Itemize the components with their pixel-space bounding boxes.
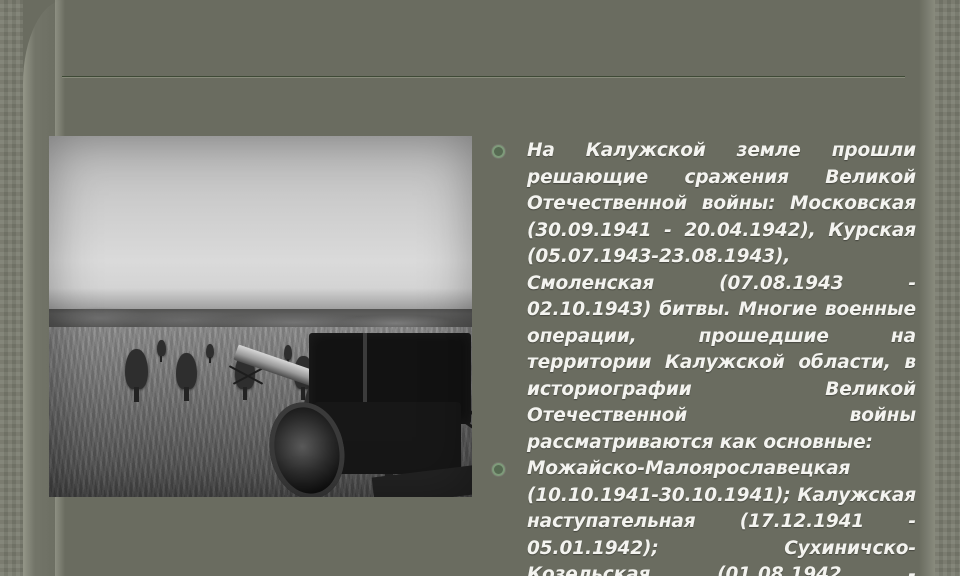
right-decorative-band — [935, 0, 960, 576]
list-item-text: На Калужской земле прошли решающие сраже… — [527, 138, 916, 456]
photo-anti-tank-gun — [231, 323, 472, 498]
ring-bullet-icon — [492, 456, 527, 476]
list-item-text: Можайско-Малоярославецкая (10.10.1941-30… — [527, 456, 916, 576]
right-band-shading — [919, 0, 935, 576]
photo-soldier-mid — [176, 353, 197, 389]
slide-body-text: На Калужской земле прошли решающие сраже… — [492, 138, 916, 576]
photograph-content — [49, 136, 472, 497]
photo-sky — [49, 136, 472, 309]
photo-soldier-mid — [125, 349, 148, 389]
left-decorative-band — [0, 0, 23, 576]
photo-soldier-distant — [206, 344, 214, 358]
presentation-slide: На Калужской земле прошли решающие сраже… — [0, 0, 960, 576]
list-item: На Калужской земле прошли решающие сраже… — [492, 138, 916, 456]
list-item: Можайско-Малоярославецкая (10.10.1941-30… — [492, 456, 916, 576]
slide-photograph — [49, 136, 472, 497]
ring-bullet-icon — [492, 138, 527, 158]
top-divider-rule — [62, 76, 905, 78]
photo-soldier-distant — [157, 340, 166, 356]
